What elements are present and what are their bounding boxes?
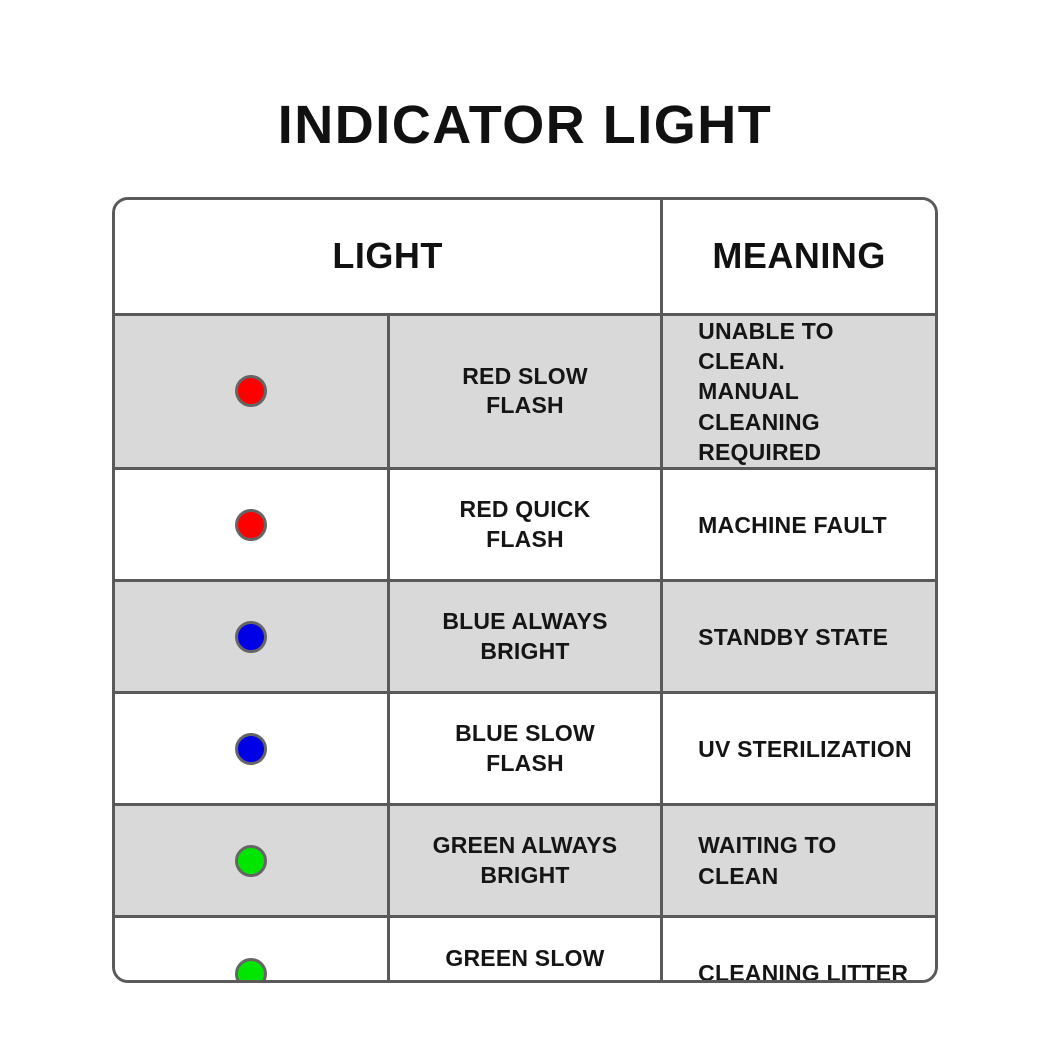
light-indicator-cell — [115, 805, 388, 917]
column-header-meaning: MEANING — [662, 200, 935, 314]
table-row: RED SLOW FLASH UNABLE TO CLEAN. MANUAL C… — [115, 314, 935, 469]
light-indicator-cell — [115, 314, 388, 469]
light-label-cell: RED SLOW FLASH — [388, 314, 661, 469]
blue-led-icon — [235, 733, 267, 765]
meaning-line1: WAITING TO CLEAN — [698, 832, 836, 888]
meaning-cell: UNABLE TO CLEAN. MANUAL CLEANING REQUIRE… — [662, 314, 935, 469]
meaning-line2: MANUAL CLEANING REQUIRED — [698, 376, 921, 467]
green-led-icon — [235, 845, 267, 877]
meaning-line1: UV STERILIZATION — [698, 736, 912, 762]
light-indicator-cell — [115, 581, 388, 693]
meaning-cell: STANDBY STATE — [662, 581, 935, 693]
meaning-line1: CLEANING LITTER — [698, 960, 908, 983]
column-header-light: LIGHT — [115, 200, 662, 314]
table-header-row: LIGHT MEANING — [115, 200, 935, 314]
red-led-icon — [235, 375, 267, 407]
light-label-cell: GREEN ALWAYS BRIGHT — [388, 805, 661, 917]
light-indicator-cell — [115, 469, 388, 581]
light-indicator-cell — [115, 917, 388, 983]
meaning-cell: UV STERILIZATION — [662, 693, 935, 805]
light-label-cell: BLUE SLOW FLASH — [388, 693, 661, 805]
light-label-line2: FLASH — [398, 391, 652, 420]
light-label-line2: FLASH — [398, 525, 652, 554]
indicator-light-table-container: LIGHT MEANING RED SLOW FLASH UNABLE TO C… — [112, 197, 938, 983]
light-label-line1: GREEN SLOW — [445, 945, 604, 971]
indicator-light-page: INDICATOR LIGHT LIGHT MEANING RED SLOW F… — [0, 0, 1050, 1050]
meaning-cell: CLEANING LITTER — [662, 917, 935, 983]
light-label-line1: RED SLOW — [462, 363, 588, 389]
red-led-icon — [235, 509, 267, 541]
light-label-cell: BLUE ALWAYS BRIGHT — [388, 581, 661, 693]
meaning-line1: UNABLE TO CLEAN. — [698, 318, 834, 374]
light-label-cell: GREEN SLOW FLASH — [388, 917, 661, 983]
green-led-icon — [235, 958, 267, 983]
meaning-cell: MACHINE FAULT — [662, 469, 935, 581]
light-label-line2: BRIGHT — [398, 637, 652, 666]
table-row: BLUE ALWAYS BRIGHT STANDBY STATE — [115, 581, 935, 693]
light-label-line2: FLASH — [398, 974, 652, 983]
light-label-line1: BLUE ALWAYS — [442, 608, 607, 634]
light-label-line1: BLUE SLOW — [455, 720, 595, 746]
indicator-light-table: LIGHT MEANING RED SLOW FLASH UNABLE TO C… — [115, 200, 935, 983]
meaning-line1: MACHINE FAULT — [698, 512, 887, 538]
meaning-cell: WAITING TO CLEAN — [662, 805, 935, 917]
table-row: GREEN ALWAYS BRIGHT WAITING TO CLEAN — [115, 805, 935, 917]
light-label-line1: GREEN ALWAYS — [433, 832, 618, 858]
light-label-line2: FLASH — [398, 749, 652, 778]
light-label-line1: RED QUICK — [460, 496, 591, 522]
table-row: GREEN SLOW FLASH CLEANING LITTER — [115, 917, 935, 983]
light-indicator-cell — [115, 693, 388, 805]
table-header: LIGHT MEANING — [115, 200, 935, 314]
light-label-cell: RED QUICK FLASH — [388, 469, 661, 581]
meaning-line1: STANDBY STATE — [698, 624, 888, 650]
page-title: INDICATOR LIGHT — [0, 98, 1050, 152]
blue-led-icon — [235, 621, 267, 653]
table-row: RED QUICK FLASH MACHINE FAULT — [115, 469, 935, 581]
light-label-line2: BRIGHT — [398, 861, 652, 890]
table-body: RED SLOW FLASH UNABLE TO CLEAN. MANUAL C… — [115, 314, 935, 983]
table-row: BLUE SLOW FLASH UV STERILIZATION — [115, 693, 935, 805]
